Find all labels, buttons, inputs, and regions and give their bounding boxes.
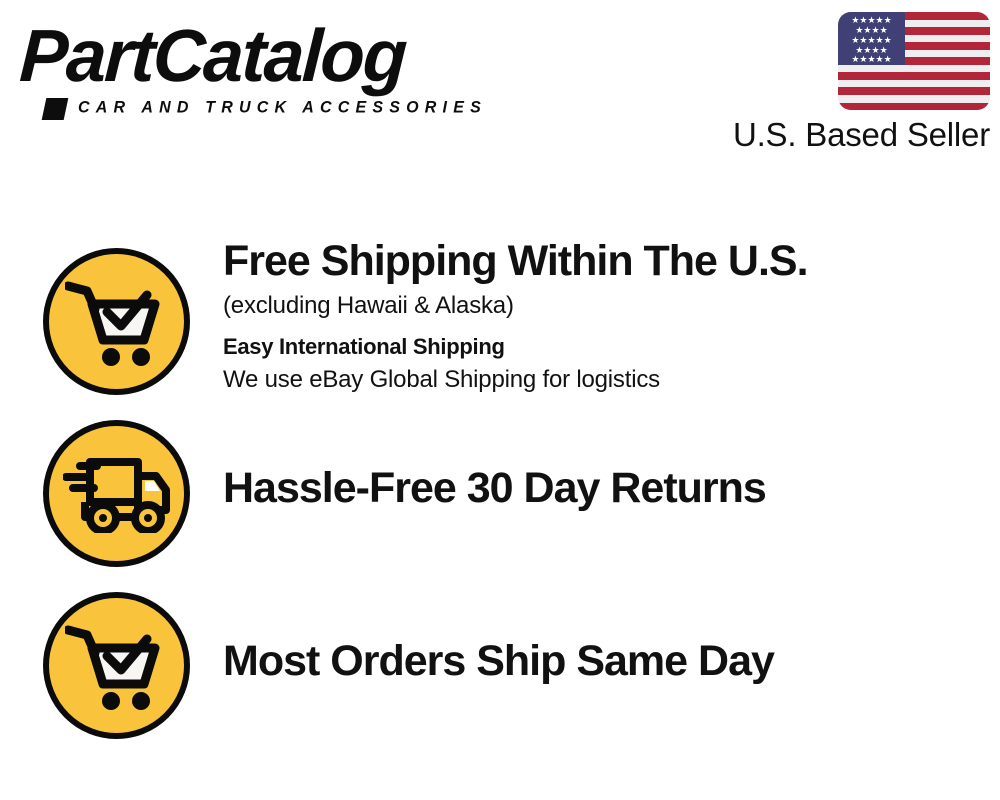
- feature-text-block: Hassle-Free 30 Day Returns: [223, 463, 963, 513]
- feature-row: Hassle-Free 30 Day Returns: [0, 420, 1000, 570]
- brand-tagline: CAR AND TRUCK ACCESSORIES: [78, 99, 487, 118]
- delivery-truck-icon: [43, 420, 190, 567]
- feature-heading: Most Orders Ship Same Day: [223, 636, 963, 686]
- feature-subtext: We use eBay Global Shipping for logistic…: [223, 363, 963, 397]
- brand-wordmark: PartCatalog: [18, 16, 408, 96]
- flag-stripe: [838, 95, 990, 103]
- feature-text-block: Most Orders Ship Same Day: [223, 636, 963, 686]
- feature-heading: Free Shipping Within The U.S.: [223, 236, 963, 286]
- flag-stripe: [838, 103, 990, 111]
- us-based-seller-label: U.S. Based Seller: [724, 116, 990, 154]
- feature-row: Most Orders Ship Same Day: [0, 592, 1000, 742]
- us-flag-icon: ★★★★★ ★★★★ ★★★★★ ★★★★ ★★★★★: [838, 12, 990, 110]
- feature-subtext: (excluding Hawaii & Alaska): [223, 289, 963, 323]
- flag-stripe: [838, 72, 990, 80]
- flag-star-row: ★★★★★: [838, 36, 905, 45]
- feature-text-block: Free Shipping Within The U.S. (excluding…: [223, 236, 963, 397]
- flag-canton: ★★★★★ ★★★★ ★★★★★ ★★★★ ★★★★★: [838, 12, 905, 65]
- flag-stripe: [838, 80, 990, 88]
- flag-star-row: ★★★★★: [838, 16, 905, 25]
- brand-logo: PartCatalog CAR AND TRUCK ACCESSORIES: [22, 20, 492, 115]
- flag-star-row: ★★★★: [838, 26, 905, 35]
- shopping-cart-check-icon: [43, 592, 190, 739]
- shopping-cart-check-icon: [43, 248, 190, 395]
- page-header: PartCatalog CAR AND TRUCK ACCESSORIES ★★…: [0, 0, 1000, 175]
- feature-heading: Hassle-Free 30 Day Returns: [223, 463, 963, 513]
- brand-logo-slab: [42, 98, 69, 120]
- flag-star-row: ★★★★★: [838, 55, 905, 64]
- feature-row: Free Shipping Within The U.S. (excluding…: [0, 248, 1000, 408]
- flag-stripe: [838, 65, 990, 73]
- flag-stripe: [838, 87, 990, 95]
- feature-subtext-bold: Easy International Shipping: [223, 330, 963, 363]
